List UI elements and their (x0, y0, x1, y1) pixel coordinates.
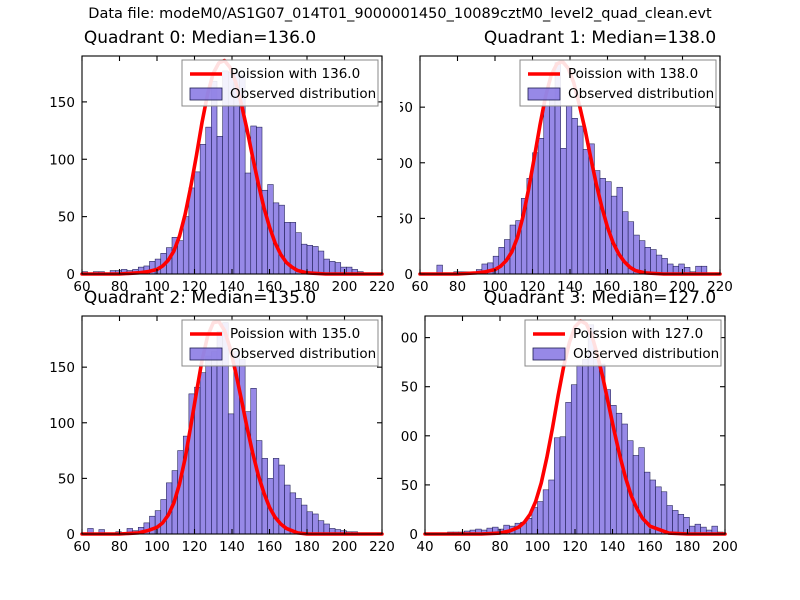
subplot-quadrant-2: Quadrant 2: Median=135.0 608010012014016… (0, 288, 400, 560)
y-tick-label: 0 (404, 267, 413, 283)
histogram-bar (240, 359, 246, 534)
histogram-bar (543, 490, 549, 534)
legend: Poission with 138.0Observed distribution (520, 60, 716, 106)
histogram-bar (195, 172, 201, 274)
x-tick-label: 60 (454, 539, 471, 555)
histogram-bar (684, 517, 690, 534)
y-tick-label: 150 (400, 100, 413, 116)
x-tick-label: 100 (525, 539, 551, 555)
histogram-bar (566, 402, 572, 534)
histogram-bar (206, 127, 212, 274)
histogram-bar (577, 365, 583, 534)
y-tick-label: 100 (400, 156, 413, 172)
y-tick-label: 50 (58, 210, 75, 226)
histogram-bar (301, 505, 307, 534)
histogram-bar (661, 492, 667, 534)
histogram-bar (245, 173, 251, 274)
x-tick-label: 160 (637, 539, 663, 555)
histogram-bar (594, 359, 600, 534)
legend: Poission with 127.0Observed distribution (525, 320, 721, 366)
legend-patch-marker (533, 348, 565, 360)
x-tick-label: 120 (562, 539, 588, 555)
x-tick-label: 80 (111, 539, 128, 555)
histogram-bar (200, 144, 206, 274)
subplot-title-quadrant-0: Quadrant 0: Median=136.0 (0, 28, 400, 48)
x-tick-label: 140 (600, 539, 626, 555)
histogram-bar (651, 250, 657, 274)
subplot-quadrant-3: Quadrant 3: Median=127.0 406080100120140… (400, 288, 800, 560)
histogram-bar (228, 414, 234, 534)
histogram-bar (324, 259, 330, 274)
x-tick-label: 100 (144, 539, 170, 555)
histogram-bar (499, 247, 505, 274)
legend: Poission with 135.0Observed distribution (182, 320, 378, 366)
histogram-bar (656, 255, 662, 274)
subplot-title-quadrant-2: Quadrant 2: Median=135.0 (0, 288, 400, 308)
histogram-bar (313, 246, 319, 274)
legend-patch-marker (528, 88, 560, 100)
histogram-bar (279, 205, 285, 274)
histogram-bar (662, 258, 668, 274)
histogram-bar (639, 241, 645, 274)
legend-label: Observed distribution (230, 346, 376, 362)
histogram-bar (189, 188, 195, 274)
histogram-bar (678, 514, 684, 534)
histogram-bar (583, 359, 589, 534)
subplot-title-quadrant-1: Quadrant 1: Median=138.0 (400, 28, 800, 48)
histogram-bar (307, 512, 313, 534)
y-tick-label: 100 (49, 416, 75, 432)
x-tick-label: 60 (73, 539, 90, 555)
histogram-bar (538, 138, 544, 274)
legend: Poission with 136.0Observed distribution (182, 60, 378, 106)
histogram-bar (318, 251, 324, 274)
legend-label: Observed distribution (573, 346, 719, 362)
subplot-title-quadrant-3: Quadrant 3: Median=127.0 (400, 288, 800, 308)
histogram-bar (307, 245, 313, 274)
histogram-bar (296, 498, 302, 534)
y-tick-label: 100 (49, 152, 75, 168)
plot-svg-quadrant-2: 6080100120140160180200220050100150Poissi… (0, 288, 400, 560)
x-tick-label: 140 (219, 539, 245, 555)
histogram-bar (667, 506, 673, 534)
x-tick-label: 160 (257, 539, 283, 555)
y-tick-label: 50 (58, 471, 75, 487)
legend-label: Poission with 135.0 (230, 326, 360, 342)
histogram-bar (600, 178, 606, 274)
subplot-quadrant-0: Quadrant 0: Median=136.0 608010012014016… (0, 28, 400, 300)
x-tick-label: 80 (491, 539, 508, 555)
histogram-bar (645, 247, 651, 274)
y-tick-label: 100 (400, 429, 418, 445)
plot-svg-quadrant-3: 406080100120140160180200050100150200Pois… (400, 288, 800, 560)
histogram-bar (330, 261, 336, 274)
legend-label: Poission with 136.0 (230, 66, 360, 82)
y-tick-label: 0 (409, 527, 418, 543)
plot-svg-quadrant-0: 6080100120140160180200220050100150Poissi… (0, 28, 400, 300)
figure-suptitle: Data file: modeM0/AS1G07_014T01_90000014… (0, 6, 800, 22)
histogram-bar (313, 514, 319, 534)
legend-patch-marker (190, 348, 222, 360)
histogram-bar (217, 136, 223, 274)
histogram-bar (578, 126, 584, 274)
legend-label: Observed distribution (230, 86, 376, 102)
histogram-bar (633, 455, 639, 534)
x-tick-label: 180 (294, 539, 320, 555)
y-tick-label: 150 (400, 380, 418, 396)
legend-label: Poission with 138.0 (568, 66, 698, 82)
y-tick-label: 50 (400, 211, 413, 227)
y-tick-label: 50 (401, 478, 418, 494)
histogram-bar (616, 413, 622, 534)
histogram-bar (583, 149, 589, 274)
histogram-bar (290, 493, 296, 534)
legend-label: Poission with 127.0 (573, 326, 703, 342)
histogram-bar (566, 106, 572, 274)
histogram-bar (549, 480, 555, 534)
histogram-bar (538, 502, 544, 534)
x-tick-label: 120 (182, 539, 208, 555)
histogram-bar (560, 437, 566, 534)
plot-svg-quadrant-1: 6080100120140160180200220050100150Poissi… (400, 28, 800, 300)
histogram-bar (554, 438, 560, 534)
histogram-bar (572, 118, 578, 274)
histogram-bar (178, 241, 184, 274)
y-tick-label: 200 (400, 331, 418, 347)
histogram-bar (296, 233, 302, 274)
histogram-bar (155, 511, 161, 534)
histogram-bar (318, 521, 324, 534)
legend-patch-marker (190, 88, 222, 100)
x-tick-label: 180 (675, 539, 701, 555)
y-tick-label: 150 (49, 95, 75, 111)
histogram-bar (571, 385, 577, 534)
histogram-bar (301, 244, 307, 274)
x-tick-label: 200 (712, 539, 738, 555)
histogram-bar (211, 352, 217, 534)
histogram-bar (673, 510, 679, 534)
y-tick-label: 0 (66, 267, 75, 283)
histogram-bar (544, 106, 550, 274)
subplot-quadrant-1: Quadrant 1: Median=138.0 608010012014016… (400, 28, 800, 300)
histogram-bar (206, 356, 212, 534)
histogram-bar (200, 373, 206, 534)
x-tick-label: 220 (369, 539, 395, 555)
legend-label: Observed distribution (568, 86, 714, 102)
histogram-bar (211, 81, 217, 274)
x-tick-label: 40 (416, 539, 433, 555)
figure-canvas: Data file: modeM0/AS1G07_014T01_90000014… (0, 0, 800, 600)
x-tick-label: 200 (332, 539, 358, 555)
y-tick-label: 0 (66, 527, 75, 543)
histogram-bar (549, 99, 555, 274)
y-tick-label: 150 (49, 360, 75, 376)
histogram-bar (561, 148, 567, 274)
